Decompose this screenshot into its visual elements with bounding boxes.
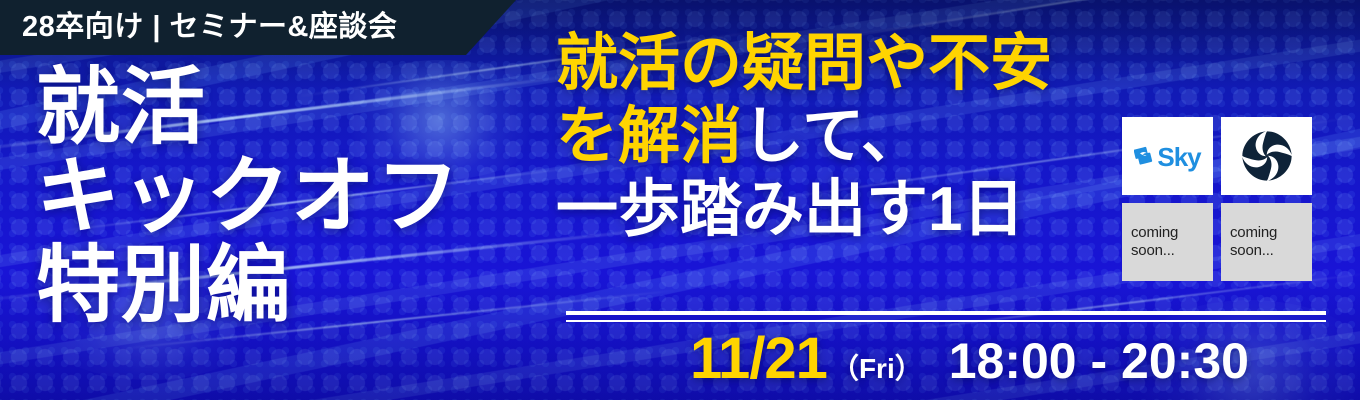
tagline-line-1-text: 就活の疑問や不安	[556, 29, 1052, 98]
swirl-logo-icon	[1239, 128, 1295, 184]
coming-soon-label: comingsoon...	[1131, 224, 1178, 259]
tagline-line-2-highlight: を解消	[556, 102, 742, 171]
divider-rule-thick	[566, 311, 1326, 315]
event-title-line-2: キックオフ	[36, 155, 461, 238]
sponsor-slot-coming-soon-2: comingsoon...	[1221, 203, 1312, 281]
divider-double-rule	[566, 311, 1326, 322]
event-title-line-1: 就活	[36, 66, 461, 149]
event-weekday: （Fri）	[831, 355, 923, 383]
tagline-line-1: 就活の疑問や不安	[556, 32, 1052, 95]
sponsor-logo-grid: Sky comingsoon... comingsoon...	[1122, 117, 1312, 285]
coming-soon-label: comingsoon...	[1230, 224, 1277, 259]
event-title-line-3: 特別編	[36, 244, 461, 327]
audience-badge-label: 28卒向け | セミナー&座談会	[0, 13, 397, 42]
sky-logo-wordmark: Sky	[1157, 144, 1200, 170]
tagline-line-2-rest: して、	[742, 102, 923, 171]
tagline-line-2: を解消して、	[556, 105, 1052, 168]
event-tagline: 就活の疑問や不安 を解消して、 一歩踏み出す1日	[556, 32, 1052, 242]
audience-badge: 28卒向け | セミナー&座談会	[0, 0, 516, 55]
event-title: 就活 キックオフ 特別編	[36, 66, 461, 327]
sponsor-logo-swirl	[1221, 117, 1312, 195]
sponsor-logo-sky: Sky	[1122, 117, 1213, 195]
event-time: 18:00 - 20:30	[949, 336, 1249, 386]
event-date: 11/21	[690, 330, 827, 388]
sponsor-slot-coming-soon-1: comingsoon...	[1122, 203, 1213, 281]
tagline-line-3-text: 一歩踏み出す1日	[556, 175, 1024, 244]
divider-rule-thin	[566, 320, 1326, 322]
tagline-line-3: 一歩踏み出す1日	[556, 178, 1052, 241]
sky-logo-icon: Sky	[1134, 144, 1200, 170]
event-banner: 28卒向け | セミナー&座談会 就活 キックオフ 特別編 就活の疑問や不安 を…	[0, 0, 1360, 400]
schedule: 11/21 （Fri） 18:00 - 20:30	[690, 330, 1249, 388]
